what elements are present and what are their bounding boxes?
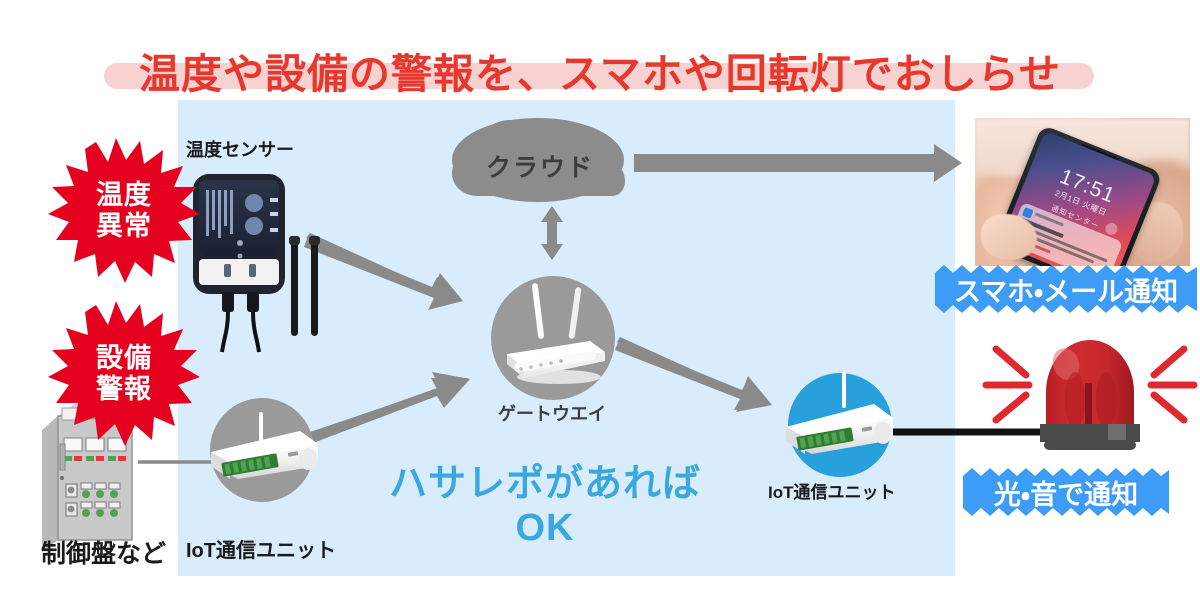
arrow-sensor-to-gateway bbox=[304, 233, 463, 310]
arrow-gateway-cloud-bidirectional bbox=[541, 206, 563, 260]
arrow-cloud-to-smartphone bbox=[634, 144, 962, 182]
label-temperature-sensor: 温度センサー bbox=[186, 136, 294, 162]
alert-badge-temp-abnormal-label: 温度 異常 bbox=[48, 138, 200, 283]
alert-temp-line1: 温度 bbox=[96, 180, 152, 210]
app-icon bbox=[1022, 207, 1034, 219]
label-gateway: ゲートウエイ bbox=[498, 400, 606, 426]
gateway-device bbox=[491, 276, 615, 400]
banner-light-sound-label: 光・音で通知 bbox=[994, 473, 1138, 512]
label-iot-unit-right: IoT通信ユニット bbox=[768, 478, 896, 503]
label-iot-unit-left: IoT通信ユニット bbox=[186, 534, 336, 563]
arrow-iot-left-to-gateway bbox=[308, 372, 470, 443]
iot-unit-left-device bbox=[210, 398, 318, 502]
banner-light-sound: 光・音で通知 bbox=[963, 468, 1169, 516]
label-control-panel: 制御盤など bbox=[41, 534, 166, 570]
iot-unit-right-device bbox=[786, 372, 893, 477]
temperature-sensor-device bbox=[193, 174, 320, 352]
infographic-canvas: 温度や設備の警報を、スマホや回転灯でおしらせ bbox=[0, 0, 1200, 600]
slogan-line2: OK bbox=[330, 506, 760, 550]
alert-temp-line2: 異常 bbox=[96, 211, 152, 241]
banner-smartphone-label: スマホ・メール通知 bbox=[954, 270, 1178, 309]
alert-equip-line2: 警報 bbox=[96, 374, 152, 404]
center-slogan: ハサレポがあれば OK bbox=[330, 462, 760, 551]
banner-smartphone-mail: スマホ・メール通知 bbox=[935, 265, 1197, 313]
alert-badge-equipment-alarm-label: 設備 警報 bbox=[48, 301, 200, 446]
smartphone-photo: 17:51 2月1日 火曜日 通知センター bbox=[975, 118, 1190, 266]
label-cloud: クラウド bbox=[486, 148, 594, 184]
slogan-line1: ハサレポがあれば bbox=[330, 462, 760, 506]
arrow-gateway-to-iot-right bbox=[615, 337, 772, 412]
alert-equip-line1: 設備 bbox=[96, 343, 152, 373]
